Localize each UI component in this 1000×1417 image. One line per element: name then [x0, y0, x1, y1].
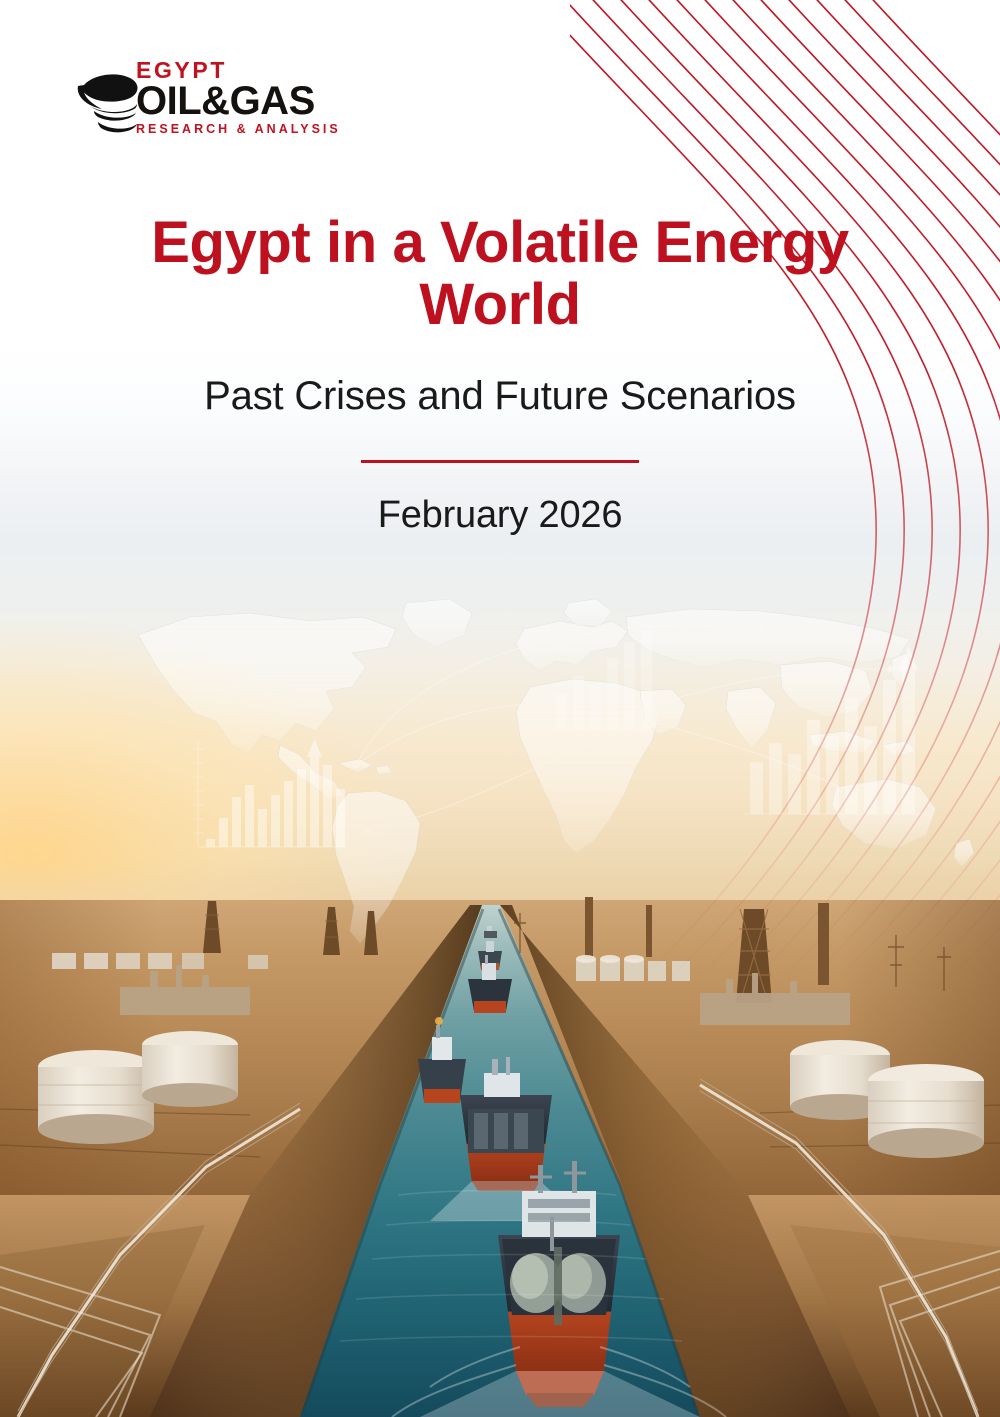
logo-oil-text: OIL: [136, 79, 201, 123]
ghost-bar-chart-left: [192, 735, 352, 860]
ghost-bar-chart-right: [740, 640, 930, 830]
logo-oilgas-text: OIL&GAS: [136, 82, 366, 120]
brand-logo[interactable]: EGYPT OIL&GAS RESEARCH & ANALYSIS: [74, 58, 364, 146]
suez-canal-scene: [0, 895, 1000, 1417]
logo-gas-text: GAS: [230, 79, 315, 123]
report-title: Egypt in a Volatile Energy World: [0, 212, 1000, 336]
ghost-bar-chart-mid: [548, 620, 668, 740]
logo-ampersand: &: [201, 79, 229, 123]
report-date: February 2026: [0, 493, 1000, 537]
report-cover-page: EGYPT OIL&GAS RESEARCH & ANALYSIS Egypt …: [0, 0, 1000, 1417]
report-subtitle: Past Crises and Future Scenarios: [0, 372, 1000, 420]
logo-tagline: RESEARCH & ANALYSIS: [136, 121, 366, 137]
cover-title-block: Egypt in a Volatile Energy World Past Cr…: [0, 212, 1000, 537]
title-divider: [361, 460, 639, 463]
